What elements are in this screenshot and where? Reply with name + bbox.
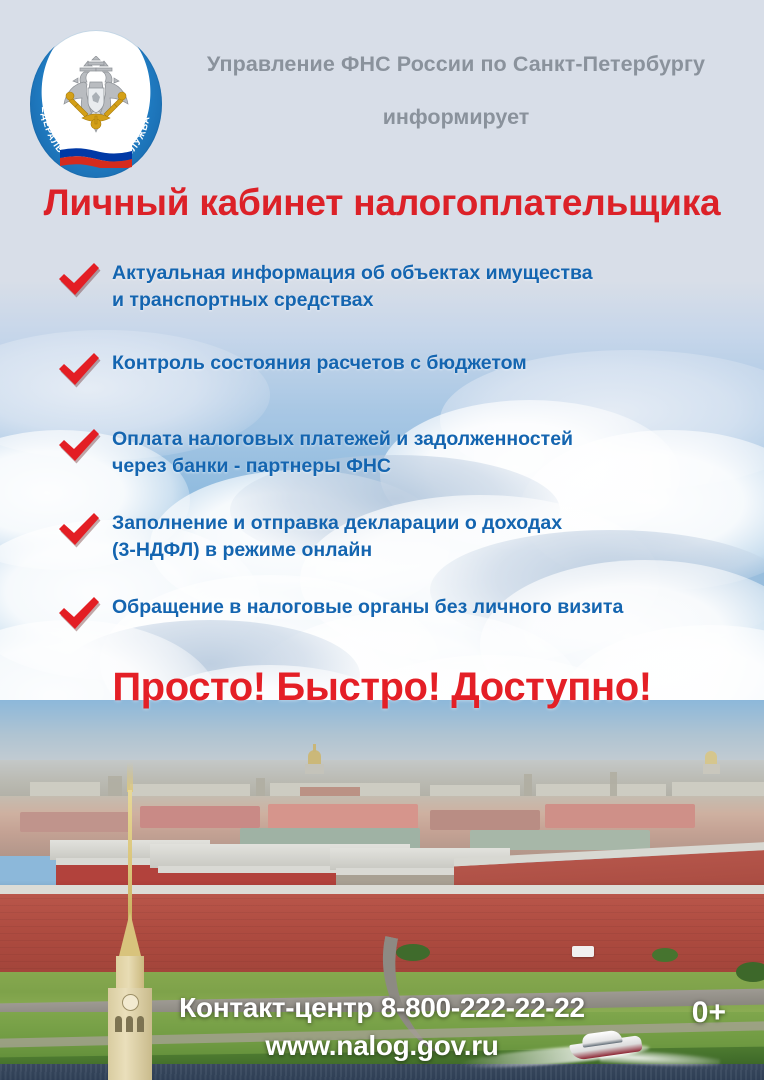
list-item: Оплата налоговых платежей и задолженност… (0, 424, 764, 480)
list-item-text: Заполнение и отправка декларации о доход… (112, 508, 764, 564)
website-url[interactable]: www.nalog.gov.ru (0, 1030, 764, 1062)
list-item-line2: через банки - партнеры ФНС (112, 453, 764, 480)
red-checkmark-icon (56, 512, 108, 550)
russian-tricolor-flag-icon (58, 138, 134, 168)
header-title-line2: информирует (168, 105, 744, 130)
red-checkmark-icon (56, 352, 108, 390)
list-item-line1: Оплата налоговых платежей и задолженност… (112, 428, 573, 450)
header-text-block: Управление ФНС России по Санкт-Петербург… (168, 52, 744, 130)
red-checkmark-icon (56, 428, 108, 466)
fns-emblem-logo: НАЛОГОВАЯ ФЕДЕРАЛЬНАЯ СЛУЖБА (30, 30, 162, 178)
list-item-text: Контроль состояния расчетов с бюджетом (112, 348, 764, 377)
page-title: Личный кабинет налогоплательщика (0, 182, 764, 224)
list-item-text: Актуальная информация об объектах имущес… (112, 258, 764, 314)
list-item-line1: Контроль состояния расчетов с бюджетом (112, 352, 527, 374)
list-item: Обращение в налоговые органы без личного… (0, 592, 764, 640)
list-item-line1: Актуальная информация об объектах имущес… (112, 262, 593, 284)
list-item: Контроль состояния расчетов с бюджетом (0, 348, 764, 396)
list-item-line1: Заполнение и отправка декларации о доход… (112, 512, 562, 534)
list-item-text: Оплата налоговых платежей и задолженност… (112, 424, 764, 480)
contact-center-phone: Контакт-центр 8-800-222-22-22 (0, 992, 764, 1024)
feature-list: Актуальная информация об объектах имущес… (0, 258, 764, 640)
red-checkmark-icon (56, 262, 108, 300)
red-checkmark-icon (56, 596, 108, 634)
list-item-line1: Обращение в налоговые органы без личного… (112, 596, 623, 618)
list-item: Актуальная информация об объектах имущес… (0, 258, 764, 314)
list-item: Заполнение и отправка декларации о доход… (0, 508, 764, 564)
header-title-line1: Управление ФНС России по Санкт-Петербург… (168, 52, 744, 77)
poster-footer: Контакт-центр 8-800-222-22-22 www.nalog.… (0, 992, 764, 1062)
list-item-line2: (3-НДФЛ) в режиме онлайн (112, 537, 764, 564)
double-headed-eagle-icon (54, 56, 138, 140)
list-item-line2: и транспортных средствах (112, 287, 764, 314)
slogan: Просто! Быстро! Доступно! (0, 665, 764, 710)
age-rating-badge: 0+ (692, 996, 726, 1030)
poster-header: НАЛОГОВАЯ ФЕДЕРАЛЬНАЯ СЛУЖБА (0, 22, 764, 172)
poster: НАЛОГОВАЯ ФЕДЕРАЛЬНАЯ СЛУЖБА (0, 0, 764, 1080)
list-item-text: Обращение в налоговые органы без личного… (112, 592, 764, 621)
poster-content: НАЛОГОВАЯ ФЕДЕРАЛЬНАЯ СЛУЖБА (0, 0, 764, 1080)
